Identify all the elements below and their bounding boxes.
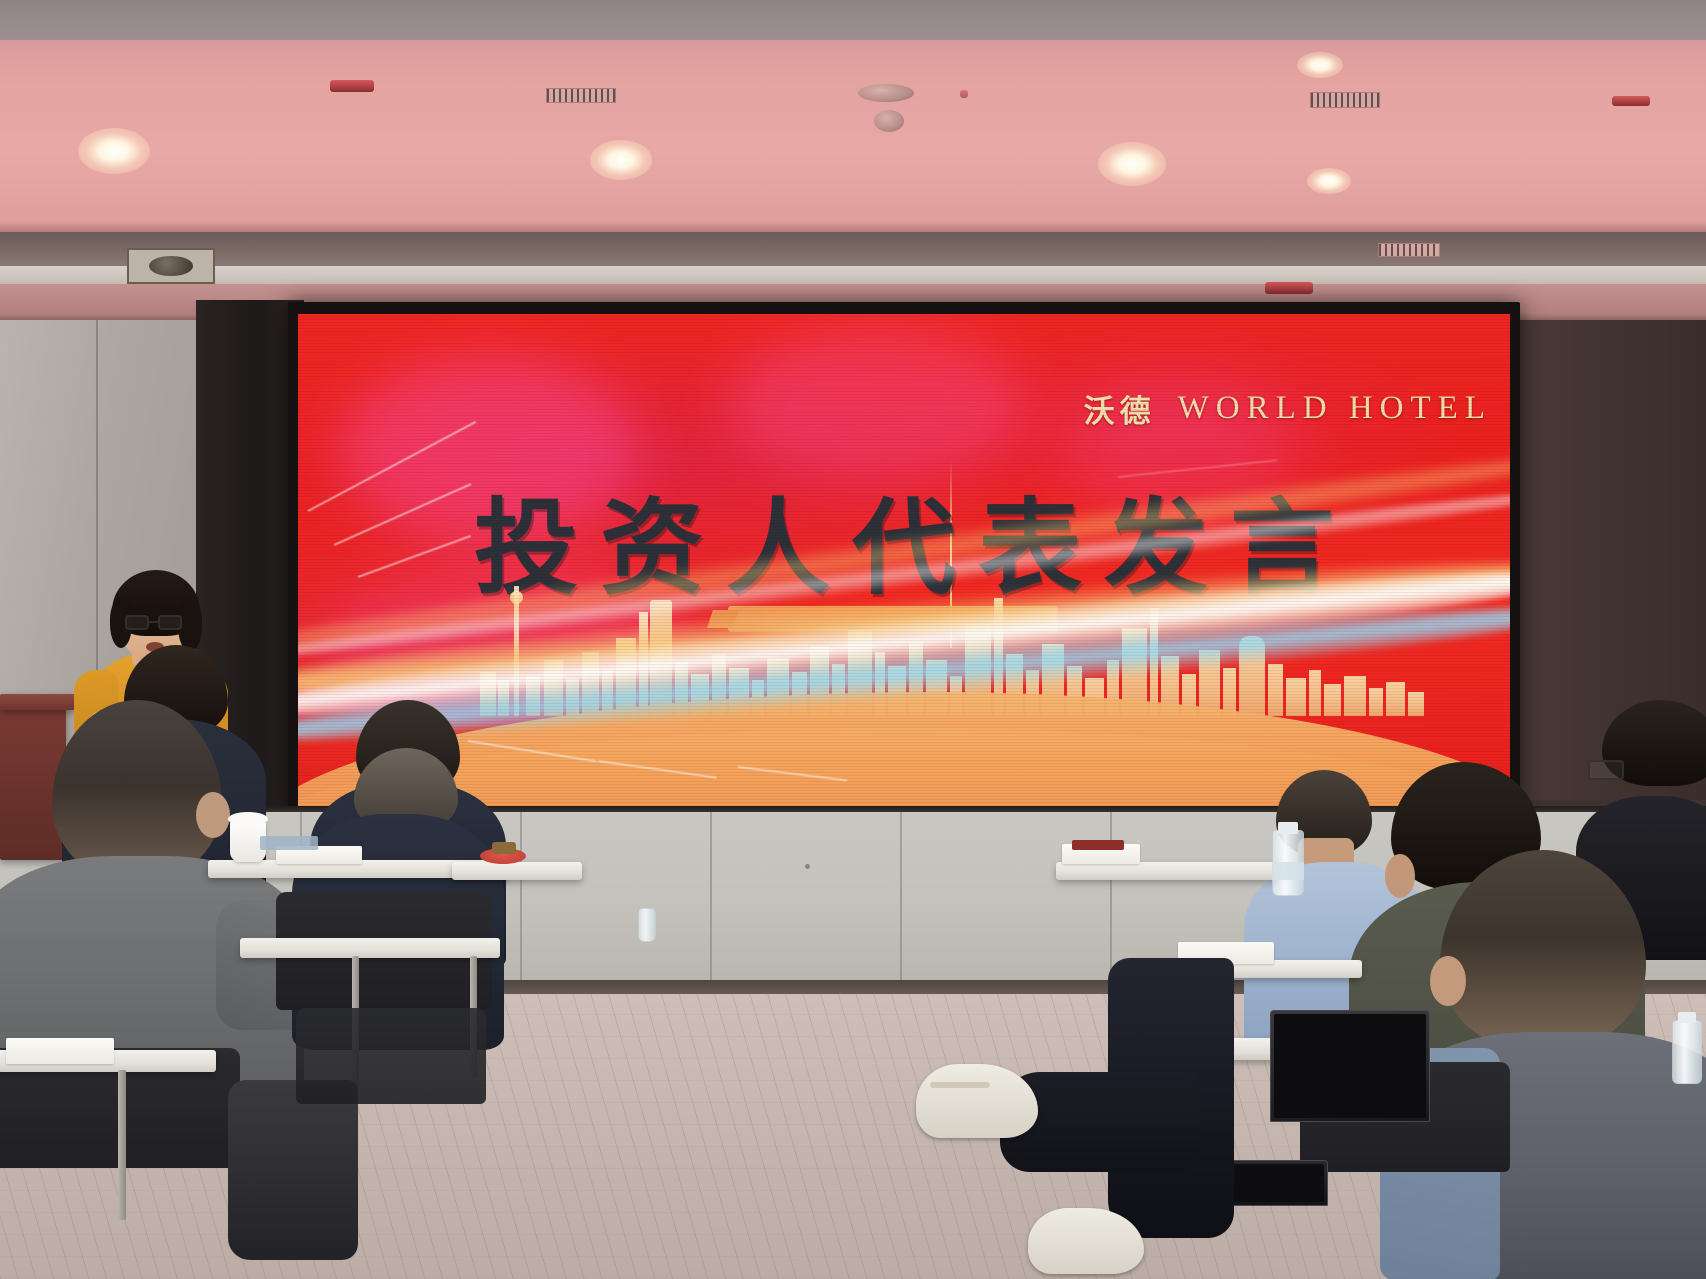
presenter-glasses-icon — [125, 615, 149, 630]
attendee-head — [1440, 850, 1646, 1050]
desk — [452, 862, 582, 880]
notebook — [6, 1038, 114, 1064]
ceiling-light-cove — [0, 266, 1706, 286]
smoke-detector-icon — [858, 84, 914, 102]
skyline-building — [1268, 664, 1283, 716]
skyline-building — [1309, 670, 1321, 716]
smoke-detector-icon — [874, 110, 904, 132]
skyline-building — [1286, 678, 1306, 716]
ceiling-downlight — [1307, 168, 1351, 194]
ceiling-air-vent — [1310, 92, 1380, 108]
laptop-screen — [1228, 1164, 1324, 1202]
screen-color-splotch — [728, 324, 1028, 484]
laptop-screen — [1274, 1014, 1426, 1118]
ceiling-emergency-light — [330, 80, 374, 92]
bottle-cap — [1278, 822, 1298, 834]
ceiling-speaker-icon — [127, 248, 215, 284]
laptop — [1224, 1160, 1328, 1206]
skyline-building — [1344, 676, 1366, 716]
ceiling-downlight — [1098, 142, 1166, 186]
desk — [240, 938, 500, 958]
ceiling-soffit — [0, 232, 1706, 270]
desk — [1056, 862, 1286, 880]
ceiling-downlight — [1297, 52, 1343, 78]
attendee-head — [52, 700, 222, 880]
skyline-building — [1369, 688, 1383, 716]
skyline-building — [1324, 684, 1341, 716]
ceiling-downlight — [590, 140, 652, 180]
ceiling-emergency-light — [960, 90, 968, 98]
ceiling-downlight — [78, 128, 150, 174]
attendee-glasses-icon — [1588, 760, 1624, 780]
conference-room-photo: 沃德 WORLD HOTEL 投资人代表发言 — [0, 0, 1706, 1279]
brand-chinese-text: 沃德 — [1084, 386, 1156, 431]
hotel-brand-logo: 沃德 WORLD HOTEL — [1084, 386, 1492, 431]
bottle-cap — [1678, 1012, 1696, 1023]
water-bottle — [1672, 1020, 1702, 1084]
attendee-ear — [196, 792, 230, 838]
water-bottle — [638, 908, 656, 942]
ceiling-air-vent — [1378, 243, 1440, 257]
brand-english-text: WORLD HOTEL — [1178, 390, 1492, 427]
chair-back — [296, 1008, 486, 1104]
ceiling-air-vent — [546, 88, 616, 103]
ceiling-main-band — [0, 40, 1706, 245]
desk-leg — [118, 1070, 126, 1220]
skyline-building — [1386, 682, 1405, 716]
ceiling-emergency-light — [1265, 282, 1313, 294]
tea-cup-lid — [228, 812, 268, 826]
floor-bag — [228, 1080, 358, 1260]
laptop — [1270, 1010, 1430, 1122]
attendee-ear — [1430, 956, 1466, 1006]
presenter-glasses-icon — [158, 615, 182, 630]
ceiling-emergency-light — [1612, 96, 1650, 106]
bottle-label — [1272, 862, 1304, 880]
skyline-building — [1408, 692, 1424, 716]
